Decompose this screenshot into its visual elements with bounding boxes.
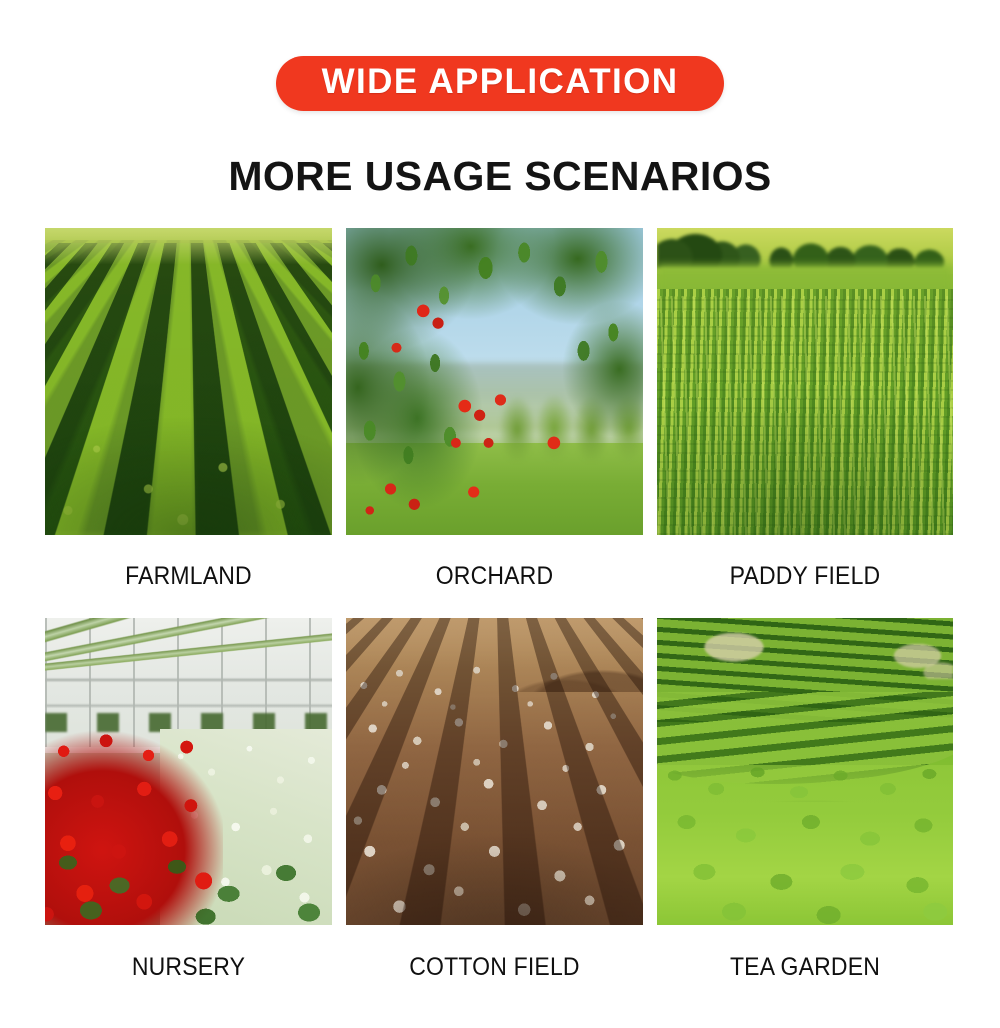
scenario-card-farmland: FARMLAND xyxy=(45,228,332,618)
scenario-label-farmland: FARMLAND xyxy=(56,535,320,618)
page-title: MORE USAGE SCENARIOS xyxy=(0,152,1000,200)
red-apples-icon xyxy=(346,228,643,535)
scenario-label-tea-garden: TEA GARDEN xyxy=(669,925,941,1028)
scenario-card-cotton-field: COTTON FIELD xyxy=(346,618,643,1028)
field-shadow-icon xyxy=(346,618,643,925)
wide-application-infographic: WIDE APPLICATION MORE USAGE SCENARIOS FA… xyxy=(0,0,1000,1000)
wide-application-banner: WIDE APPLICATION xyxy=(276,56,725,111)
farmland-photo xyxy=(45,228,332,535)
tea-leaf-texture-icon xyxy=(657,759,953,925)
garden-path-icon xyxy=(657,624,953,679)
hanging-planters-icon xyxy=(45,618,332,686)
paddy-field-photo xyxy=(657,228,953,535)
scenario-label-cotton-field: COTTON FIELD xyxy=(358,925,631,1028)
scenario-card-tea-garden: TEA GARDEN xyxy=(657,618,953,1028)
scenario-card-paddy-field: PADDY FIELD xyxy=(657,228,953,618)
field-shadow-icon xyxy=(657,228,953,535)
nursery-photo xyxy=(45,618,332,925)
scenario-label-paddy-field: PADDY FIELD xyxy=(669,535,941,618)
banner-label: WIDE APPLICATION xyxy=(322,62,679,102)
horizon-haze-icon xyxy=(45,228,332,535)
cotton-field-photo xyxy=(346,618,643,925)
scenario-label-nursery: NURSERY xyxy=(56,925,320,1028)
banner-section: WIDE APPLICATION xyxy=(0,56,1000,111)
scenario-card-nursery: NURSERY xyxy=(45,618,332,1028)
scenario-label-orchard: ORCHARD xyxy=(358,535,631,618)
scenario-card-orchard: ORCHARD xyxy=(346,228,643,618)
green-foliage-icon xyxy=(45,821,332,925)
orchard-photo xyxy=(346,228,643,535)
tea-garden-photo xyxy=(657,618,953,925)
scenario-grid: FARMLAND ORCHARD xyxy=(45,228,953,1028)
